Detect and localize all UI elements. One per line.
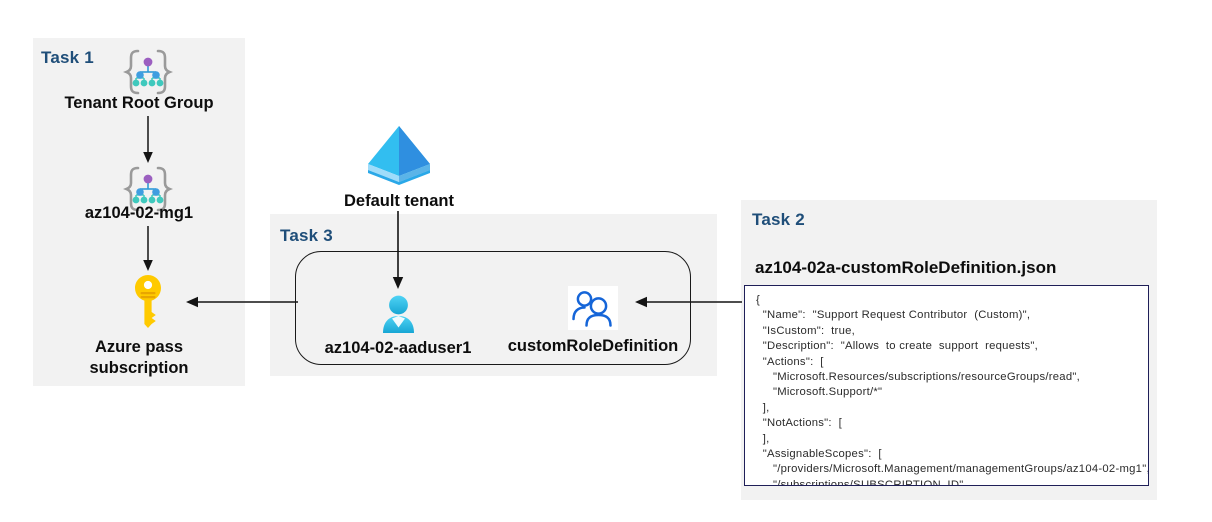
arrow-tenant-root-to-mg — [140, 116, 156, 166]
task1-label: Task 1 — [41, 48, 94, 68]
diagram-canvas: Task 1 Tenant Root Group — [0, 0, 1212, 522]
json-file-name: az104-02a-customRoleDefinition.json — [755, 258, 1056, 278]
json-code-box: { "Name": "Support Request Contributor (… — [744, 285, 1149, 486]
user-icon — [377, 294, 420, 336]
subscription-label-line2: subscription — [89, 359, 188, 377]
json-code-content: { "Name": "Support Request Contributor (… — [756, 293, 1149, 486]
arrow-task3-to-subscription — [185, 294, 300, 310]
default-tenant-label: Default tenant — [309, 191, 489, 212]
task3-label: Task 3 — [280, 226, 333, 246]
aad-user-label: az104-02-aaduser1 — [298, 338, 498, 359]
subscription-label-line1: Azure pass — [95, 338, 183, 356]
custom-role-definition-label: customRoleDefinition — [493, 336, 693, 357]
role-users-icon — [568, 286, 618, 330]
azure-pass-subscription-label: Azure pass subscription — [33, 337, 245, 379]
task2-label: Task 2 — [752, 210, 805, 230]
arrow-tenant-to-aaduser — [390, 211, 406, 291]
tenant-root-group-label: Tenant Root Group — [33, 93, 245, 114]
key-icon — [128, 274, 168, 330]
arrow-json-to-customrole — [634, 294, 744, 310]
arrow-mg-to-subscription — [140, 226, 156, 274]
management-group-label: az104-02-mg1 — [33, 203, 245, 224]
azure-ad-tenant-icon — [360, 120, 438, 190]
management-group-icon — [121, 48, 175, 96]
